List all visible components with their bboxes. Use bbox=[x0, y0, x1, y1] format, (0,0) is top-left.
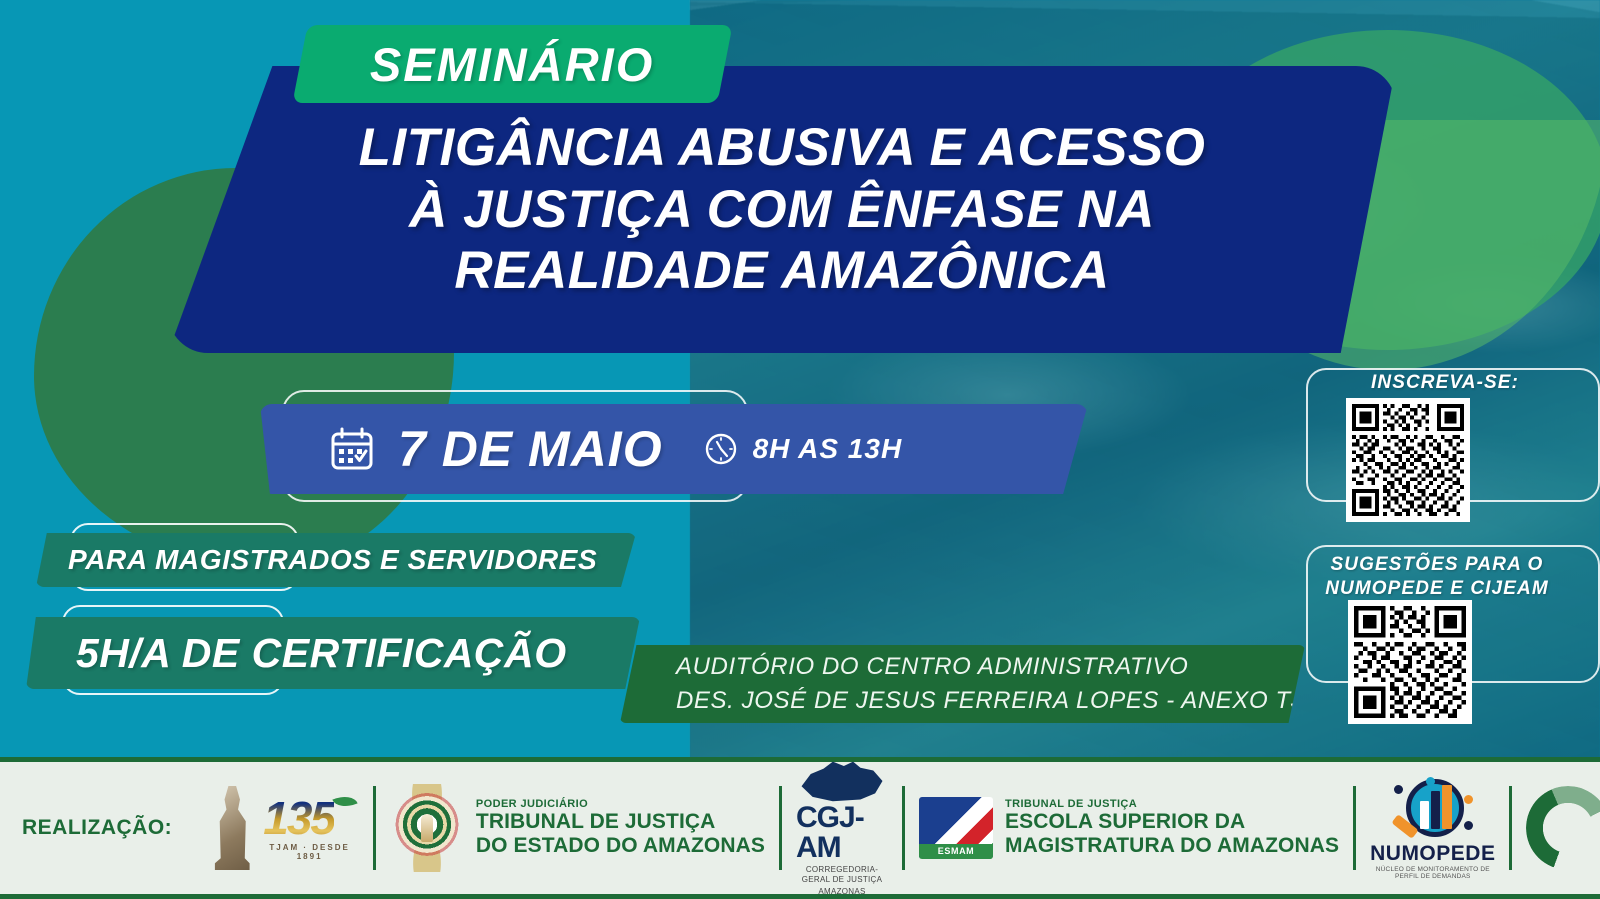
certification-badge: 5H/A DE CERTIFICAÇÃO bbox=[26, 617, 640, 689]
leaf-icon bbox=[332, 791, 357, 811]
tribunal-justica-text: PODER JUDICIÁRIO TRIBUNAL DE JUSTIÇA DO … bbox=[476, 798, 765, 858]
tribunal-justica-small: PODER JUDICIÁRIO bbox=[476, 798, 765, 810]
chart-bar-1 bbox=[1420, 801, 1429, 829]
register-qr-code-icon[interactable] bbox=[1346, 398, 1470, 522]
node-dot-4 bbox=[1464, 821, 1473, 830]
esmam-line-1: ESCOLA SUPERIOR DA bbox=[1005, 810, 1339, 834]
c-arc-icon bbox=[1526, 786, 1600, 870]
clock-icon bbox=[703, 431, 739, 467]
tjam-coat-of-arms-icon bbox=[390, 784, 464, 872]
suggestions-qr-label: SUGESTÕES PARA O NUMOPEDE E CIJEAM bbox=[1312, 553, 1562, 601]
esmam-line-2: MAGISTRATURA DO AMAZONAS bbox=[1005, 834, 1339, 858]
numopede-sub: NÚCLEO DE MONITORAMENTO DE PERFIL DE DEM… bbox=[1370, 866, 1495, 880]
title-line-2: À JUSTIÇA COM ÊNFASE NA bbox=[252, 179, 1312, 240]
tjam-135-mark: 135 TJAM · DESDE 1891 bbox=[208, 786, 359, 870]
scales-map-icon bbox=[796, 759, 888, 803]
tjam-135-number: 135 bbox=[263, 795, 334, 841]
cgj-am-sub-1: CORREGEDORIA-GERAL DE JUSTIÇA bbox=[796, 865, 888, 885]
cgj-am-name: CGJ-AM bbox=[796, 803, 888, 863]
cgj-am-mark: CGJ-AM CORREGEDORIA-GERAL DE JUSTIÇA AMA… bbox=[796, 759, 888, 897]
lady-justice-statue-icon bbox=[208, 786, 256, 870]
magnifier-chart-icon bbox=[1392, 777, 1474, 841]
tjam-135-tagline: TJAM · DESDE 1891 bbox=[260, 843, 359, 861]
calendar-check-icon bbox=[328, 425, 376, 473]
venue-panel: AUDITÓRIO DO CENTRO ADMINISTRATIVO DES. … bbox=[620, 645, 1305, 723]
chart-bar-3 bbox=[1442, 785, 1452, 829]
tribunal-justica-line-1: TRIBUNAL DE JUSTIÇA bbox=[476, 810, 765, 834]
logo-numopede: NUMOPEDE NÚCLEO DE MONITORAMENTO DE PERF… bbox=[1356, 778, 1509, 878]
esmam-small: TRIBUNAL DE JUSTIÇA bbox=[1005, 798, 1339, 810]
venue-line-1: AUDITÓRIO DO CENTRO ADMINISTRATIVO bbox=[676, 650, 1305, 684]
numopede-mark: NUMOPEDE NÚCLEO DE MONITORAMENTO DE PERF… bbox=[1370, 777, 1495, 880]
suggestions-qr-code-icon[interactable] bbox=[1348, 600, 1472, 724]
title-panel-content: LITIGÂNCIA ABUSIVA E ACESSO À JUSTIÇA CO… bbox=[168, 66, 1396, 353]
title-line-3: REALIDADE AMAZÔNICA bbox=[252, 240, 1312, 301]
node-dot-2 bbox=[1394, 785, 1403, 794]
tribunal-justica-line-2: DO ESTADO DO AMAZONAS bbox=[476, 834, 765, 858]
esmam-text: TRIBUNAL DE JUSTIÇA ESCOLA SUPERIOR DA M… bbox=[1005, 798, 1339, 858]
logo-tribunal-justica: PODER JUDICIÁRIO TRIBUNAL DE JUSTIÇA DO … bbox=[376, 778, 779, 878]
node-dot-1 bbox=[1426, 777, 1435, 786]
coat-of-arms-figure bbox=[421, 814, 433, 842]
event-time: 8H AS 13H bbox=[753, 433, 903, 465]
seminario-badge: SEMINÁRIO bbox=[292, 25, 732, 103]
seminario-label: SEMINÁRIO bbox=[370, 37, 654, 92]
realizacao-label: REALIZAÇÃO: bbox=[22, 816, 172, 840]
esmam-flag-icon: ESMAM bbox=[919, 797, 993, 859]
venue-line-2: DES. JOSÉ DE JESUS FERREIRA LOPES - ANEX… bbox=[676, 684, 1305, 718]
date-time-bar: 7 DE MAIO 8H AS 13H bbox=[260, 404, 1088, 494]
centro-inteligencia-mark: CENTRO DE INTELIGÊNCIA Justiça Estadual … bbox=[1526, 786, 1600, 870]
logo-cgj-am: CGJ-AM CORREGEDORIA-GERAL DE JUSTIÇA AMA… bbox=[782, 778, 902, 878]
certification-label: 5H/A DE CERTIFICAÇÃO bbox=[76, 630, 567, 677]
suggestions-qr-label-line-2: NUMOPEDE E CIJEAM bbox=[1312, 577, 1562, 601]
register-qr-label: INSCREVA-SE: bbox=[1330, 371, 1560, 395]
title-line-1: LITIGÂNCIA ABUSIVA E ACESSO bbox=[252, 117, 1312, 178]
chart-bar-2 bbox=[1431, 791, 1440, 829]
esmam-badge-label: ESMAM bbox=[919, 844, 993, 859]
logo-tjam-135: 135 TJAM · DESDE 1891 bbox=[194, 778, 373, 878]
footer-sponsors-bar: REALIZAÇÃO: 135 TJAM · DESDE 1891 bbox=[0, 757, 1600, 899]
audience-badge: PARA MAGISTRADOS E SERVIDORES bbox=[36, 533, 636, 587]
node-dot-3 bbox=[1464, 795, 1473, 804]
logo-esmam: ESMAM TRIBUNAL DE JUSTIÇA ESCOLA SUPERIO… bbox=[905, 778, 1353, 878]
suggestions-qr-label-line-1: SUGESTÕES PARA O bbox=[1312, 553, 1562, 577]
logo-centro-inteligencia: CENTRO DE INTELIGÊNCIA Justiça Estadual … bbox=[1512, 778, 1600, 878]
page-title: LITIGÂNCIA ABUSIVA E ACESSO À JUSTIÇA CO… bbox=[252, 117, 1312, 301]
cgj-am-sub-2: AMAZONAS bbox=[818, 887, 865, 897]
event-poster: SEMINÁRIO LITIGÂNCIA ABUSIVA E ACESSO À … bbox=[0, 0, 1600, 899]
event-date: 7 DE MAIO bbox=[398, 420, 663, 478]
numopede-name: NUMOPEDE bbox=[1370, 843, 1495, 864]
audience-label: PARA MAGISTRADOS E SERVIDORES bbox=[68, 544, 597, 576]
